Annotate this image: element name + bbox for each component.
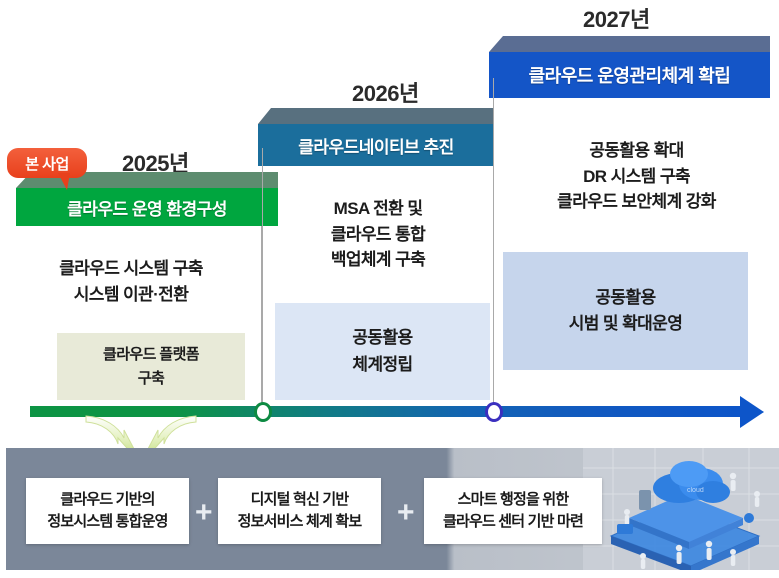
main-project-badge[interactable]: 본 사업 bbox=[7, 148, 87, 178]
header-block-2027: 클라우드 운영관리체계 확립 bbox=[489, 36, 770, 98]
outcome-box-2[interactable]: 디지털 혁신 기반 정보서비스 체계 확보 bbox=[218, 478, 381, 544]
year-label-2027: 2027년 bbox=[583, 2, 650, 34]
outcome-box-1[interactable]: 클라우드 기반의 정보시스템 통합운영 bbox=[26, 478, 189, 544]
main-project-badge-tail bbox=[58, 173, 70, 190]
plus-separator-1: + bbox=[195, 498, 213, 528]
plus-separator-2: + bbox=[397, 498, 415, 528]
header-top-face-2027 bbox=[489, 36, 770, 52]
header-block-2025: 클라우드 운영 환경구성 bbox=[16, 172, 278, 226]
header-label-2027: 클라우드 운영관리체계 확립 bbox=[489, 52, 770, 98]
sub-box-2027: 공동활용 시범 및 확대운영 bbox=[503, 252, 748, 370]
roadmap-diagram: 2027년 클라우드 운영관리체계 확립 공동활용 확대 DR 시스템 구축 클… bbox=[0, 0, 779, 578]
divider-2026 bbox=[262, 148, 263, 413]
sub-box-2026: 공동활용 체계정립 bbox=[275, 303, 490, 400]
header-top-face-2026 bbox=[258, 108, 494, 124]
timeline-marker-2026[interactable] bbox=[254, 402, 272, 422]
header-label-2025: 클라우드 운영 환경구성 bbox=[16, 188, 278, 226]
header-label-2026: 클라우드네이티브 추진 bbox=[258, 124, 494, 166]
timeline-marker-2027[interactable] bbox=[485, 402, 503, 422]
sub-box-2025: 클라우드 플랫폼 구축 bbox=[57, 333, 245, 400]
header-block-2026: 클라우드네이티브 추진 bbox=[258, 108, 494, 166]
timeline-arrowhead-icon bbox=[740, 396, 764, 428]
outcome-box-3[interactable]: 스마트 행정을 위한 클라우드 센터 기반 마련 bbox=[424, 478, 602, 544]
divider-2027 bbox=[493, 78, 494, 413]
body-text-2025: 클라우드 시스템 구축 시스템 이관·전환 bbox=[6, 256, 256, 307]
cloud-datacenter-illustration: cloud bbox=[583, 448, 779, 570]
body-text-2027: 공동활용 확대 DR 시스템 구축 클라우드 보안체계 강화 bbox=[499, 138, 774, 215]
year-label-2026: 2026년 bbox=[352, 76, 419, 108]
body-text-2026: MSA 전환 및 클라우드 통합 백업체계 구축 bbox=[267, 196, 489, 273]
svg-text:cloud: cloud bbox=[687, 487, 704, 494]
